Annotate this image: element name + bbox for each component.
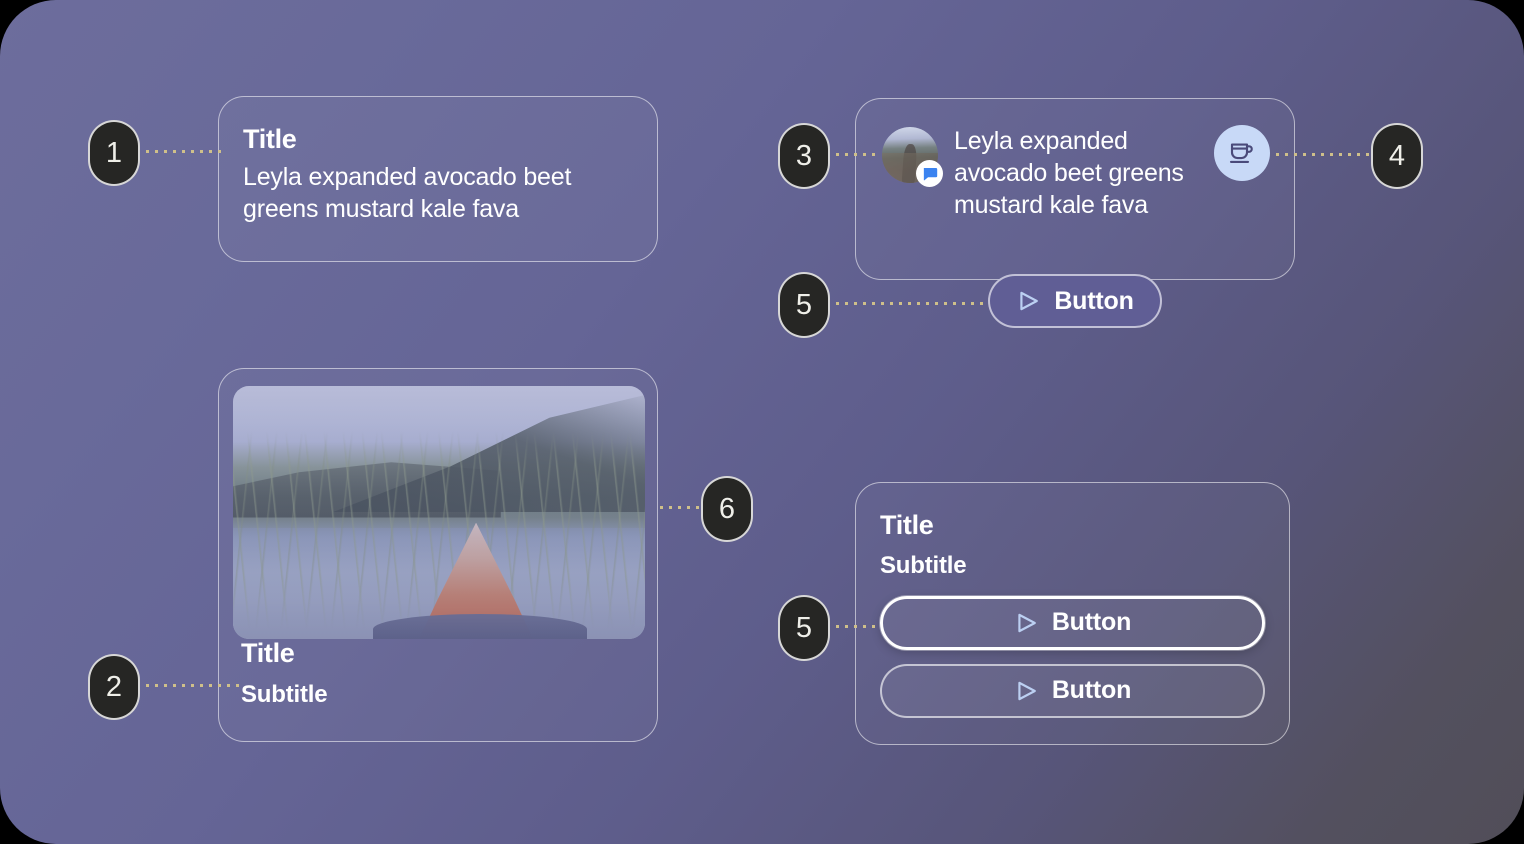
text-card-title: Title <box>243 125 631 155</box>
actions-card-subtitle: Subtitle <box>880 552 1265 580</box>
actions-card-button-primary[interactable]: Button <box>880 596 1265 650</box>
send-triangle-icon <box>1016 288 1042 314</box>
callout-marker-4[interactable]: 4 <box>1371 123 1423 189</box>
callout-marker-5b[interactable]: 5 <box>778 595 830 661</box>
annotated-component-canvas: Title Leyla expanded avocado beet greens… <box>0 0 1524 844</box>
connector-line-6 <box>660 506 704 509</box>
actions-card[interactable]: Title Subtitle Button Button <box>855 482 1290 745</box>
connector-line-5b <box>836 625 878 628</box>
coffee-cup-icon[interactable] <box>1214 125 1270 181</box>
connector-line-1 <box>146 150 222 153</box>
media-card-title: Title <box>241 638 295 668</box>
callout-marker-2[interactable]: 2 <box>88 654 140 720</box>
connector-line-2 <box>146 684 242 687</box>
text-card-body: Leyla expanded avocado beet greens musta… <box>243 161 631 225</box>
profile-card[interactable]: Leyla expanded avocado beet greens musta… <box>855 98 1295 280</box>
media-card-subtitle: Subtitle <box>241 681 327 709</box>
actions-card-button-secondary[interactable]: Button <box>880 664 1265 718</box>
actions-card-button-primary-label: Button <box>1052 608 1131 637</box>
media-card[interactable]: Title Subtitle <box>218 368 658 742</box>
chat-bubble-icon <box>916 160 943 187</box>
callout-marker-1[interactable]: 1 <box>88 120 140 186</box>
callout-marker-5a[interactable]: 5 <box>778 272 830 338</box>
kayak-lake-photo <box>233 386 645 639</box>
actions-card-title: Title <box>880 510 934 540</box>
connector-line-4 <box>1276 153 1370 156</box>
text-card[interactable]: Title Leyla expanded avocado beet greens… <box>218 96 658 262</box>
avatar[interactable] <box>882 127 938 183</box>
profile-card-button[interactable]: Button <box>988 274 1162 328</box>
connector-line-5a <box>836 302 992 305</box>
callout-marker-3[interactable]: 3 <box>778 123 830 189</box>
actions-card-button-secondary-label: Button <box>1052 676 1131 705</box>
profile-card-body: Leyla expanded avocado beet greens musta… <box>954 125 1190 221</box>
send-triangle-icon <box>1014 678 1040 704</box>
connector-line-3 <box>836 153 878 156</box>
profile-card-button-label: Button <box>1054 287 1133 316</box>
send-triangle-icon <box>1014 610 1040 636</box>
callout-marker-6[interactable]: 6 <box>701 476 753 542</box>
